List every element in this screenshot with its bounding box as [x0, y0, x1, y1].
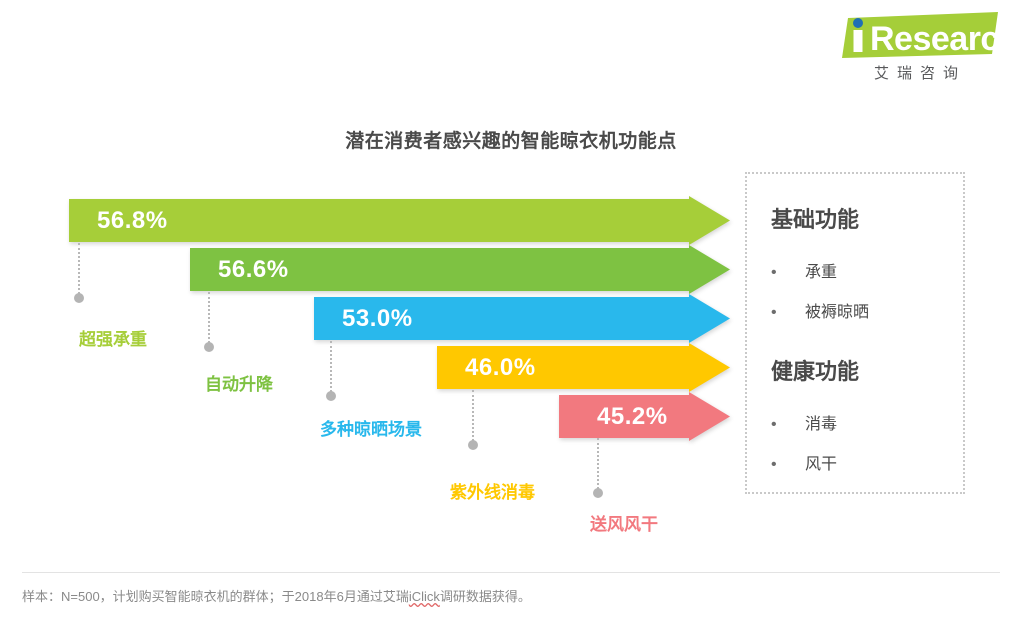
bar-row-0[interactable]: [69, 196, 730, 245]
legend-item-text: 承重: [805, 264, 837, 281]
legend-item-text: 被褥晾晒: [805, 304, 869, 321]
bar-row-2[interactable]: [314, 294, 730, 343]
legend-item-0-1: •被褥晾晒: [771, 298, 869, 322]
bar-arrow-shape-3: [437, 343, 730, 392]
legend-item-text: 消毒: [805, 416, 837, 433]
connector-dot-2: [326, 391, 336, 401]
category-label-4: 送风风干: [590, 510, 658, 535]
connector-dot-1: [204, 342, 214, 352]
connector-dot-4: [593, 488, 603, 498]
legend-heading-1: 健康功能: [771, 354, 859, 386]
legend-item-1-1: •风干: [771, 450, 837, 474]
footnote-part1: 样本：N=500，计划购买智能晾衣机的群体；于2018年6月通过艾瑞: [22, 589, 409, 604]
connector-line-0: [78, 243, 82, 298]
bar-row-4[interactable]: [559, 392, 730, 441]
logo-subtitle: 艾瑞咨询: [846, 62, 994, 83]
category-label-3: 紫外线消毒: [450, 478, 535, 503]
bar-arrow-shape-4: [559, 392, 730, 441]
category-label-2: 多种晾晒场景: [320, 415, 422, 440]
bar-row-3[interactable]: [437, 343, 730, 392]
connector-line-4: [597, 438, 601, 493]
bullet-icon: •: [771, 264, 805, 282]
bar-arrow-shape-1: [190, 245, 730, 294]
bullet-icon: •: [771, 304, 805, 322]
bar-arrow-shape-2: [314, 294, 730, 343]
bar-arrow-shape-0: [69, 196, 730, 245]
feature-group-panel: 基础功能 •承重 •被褥晾晒 健康功能 •消毒 •风干: [745, 172, 965, 494]
footnote-divider: [22, 572, 1000, 573]
iresearch-logo: Research 艾瑞咨询: [840, 10, 1000, 88]
footnote-highlight: iClick: [409, 589, 440, 604]
legend-item-0-0: •承重: [771, 258, 837, 282]
logo-brand-text: Research: [870, 20, 1000, 58]
legend-item-1-0: •消毒: [771, 410, 837, 434]
connector-line-2: [330, 341, 334, 396]
legend-heading-0: 基础功能: [771, 202, 859, 234]
logo-mark-icon: Research: [840, 10, 1000, 60]
connector-line-1: [208, 292, 212, 347]
footnote-part2: 调研数据获得。: [440, 589, 531, 604]
bullet-icon: •: [771, 416, 805, 434]
category-label-1: 自动升降: [205, 370, 273, 395]
connector-line-3: [472, 390, 476, 445]
category-label-0: 超强承重: [79, 325, 147, 350]
page-title: 潜在消费者感兴趣的智能晾衣机功能点: [0, 126, 1022, 153]
legend-item-text: 风干: [805, 456, 837, 473]
connector-dot-3: [468, 440, 478, 450]
bar-row-1[interactable]: [190, 245, 730, 294]
connector-dot-0: [74, 293, 84, 303]
footnote: 样本：N=500，计划购买智能晾衣机的群体；于2018年6月通过艾瑞iClick…: [22, 586, 531, 605]
bullet-icon: •: [771, 456, 805, 474]
